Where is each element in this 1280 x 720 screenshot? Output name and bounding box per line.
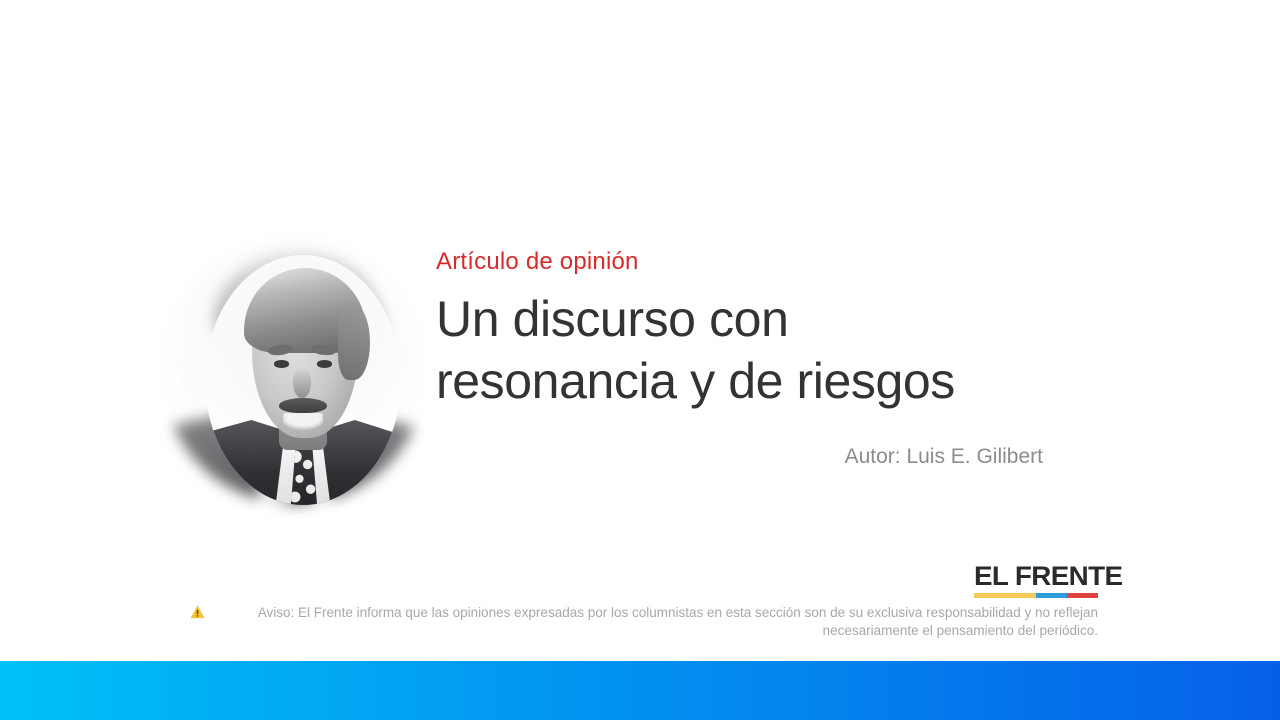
portrait-area	[150, 232, 440, 517]
page-title: Un discurso con resonancia y de riesgos	[436, 288, 1136, 412]
logo-bar-blue	[1036, 593, 1067, 598]
disclaimer-text: Aviso: El Frente informa que las opinion…	[258, 605, 1098, 638]
slide-canvas: Artículo de opinión Un discurso con reso…	[0, 0, 1280, 720]
el-frente-logo: EL FRENTE	[974, 562, 1098, 598]
logo-bar-yellow	[974, 593, 1036, 598]
author-byline: Autor: Luis E. Gilibert	[436, 443, 1043, 471]
logo-bar-red	[1067, 593, 1098, 598]
author-portrait-photo	[205, 255, 401, 505]
logo-wordmark: EL FRENTE	[974, 562, 1102, 590]
disclaimer-notice: Aviso: El Frente informa que las opinion…	[190, 604, 1098, 639]
article-kicker: Artículo de opinión	[436, 248, 639, 276]
warning-triangle-icon	[190, 605, 205, 619]
bottom-gradient-strip	[0, 661, 1280, 720]
logo-tricolor-bar	[974, 593, 1098, 598]
